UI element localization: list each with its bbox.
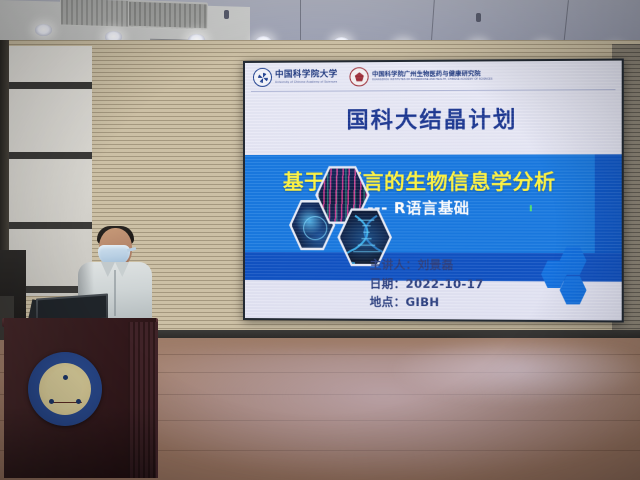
ucas-logo: 中国科学院大学 University of Chinese Academy of… [253, 67, 338, 87]
podium-emblem [28, 352, 102, 426]
ucas-logo-en: University of Chinese Academy of Science… [275, 80, 338, 83]
ucas-logo-cn: 中国科学院大学 [275, 71, 338, 80]
ceiling-downlight [35, 24, 52, 36]
gibh-logo-en: GUANGZHOU INSTITUTES OF BIOMEDICINE AND … [372, 78, 493, 81]
slide-speaker-line: 主讲人：刘景磊 [370, 255, 484, 274]
podium-emblem-node [63, 375, 68, 380]
slide-main-title: 基于R语言的生物信息学分析 [245, 165, 595, 196]
slide-date-line: 日期：2022-10-17 [370, 274, 484, 293]
slide-info-block: 主讲人：刘景磊 日期：2022-10-17 地点：GIBH [370, 255, 484, 312]
slide-logo-row: 中国科学院大学 University of Chinese Academy of… [253, 66, 493, 86]
presentation-slide: 中国科学院大学 University of Chinese Academy of… [245, 61, 622, 321]
ceiling-sprinkler [224, 10, 229, 19]
marble-grout-line [0, 82, 92, 89]
ceiling-vent-grille-second [128, 1, 208, 30]
podium-emblem-node [76, 399, 81, 404]
gibh-logo: 中国科学院广州生物医药与健康研究院 GUANGZHOU INSTITUTES O… [350, 66, 493, 86]
presenter-shirt-placket [114, 270, 116, 316]
podium-emblem-node [49, 399, 54, 404]
ceiling-sprinkler [476, 13, 481, 22]
ucas-emblem-icon [253, 68, 272, 87]
slide-location-line: 地点：GIBH [370, 293, 484, 312]
slide-program-title: 国科大结晶计划 [245, 101, 622, 135]
slide-header-divider [251, 89, 615, 92]
slide-cursor-dot [530, 205, 532, 211]
lecture-hall-photo: 中国科学院大学 University of Chinese Academy of… [0, 0, 640, 480]
projection-screen[interactable]: 中国科学院大学 University of Chinese Academy of… [243, 59, 624, 323]
projector-light-spill [390, 335, 640, 405]
marble-grout-line [0, 152, 92, 159]
gibh-emblem-icon [350, 67, 369, 86]
